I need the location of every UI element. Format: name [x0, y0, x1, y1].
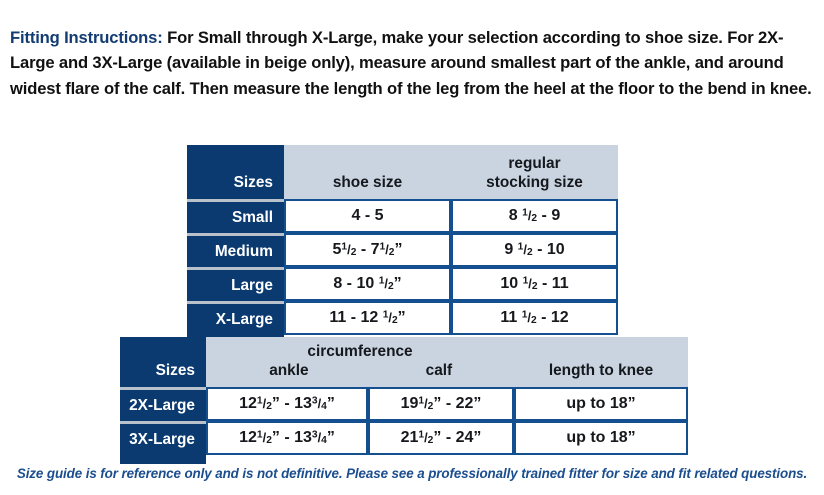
cell-large-stocking-size: 10 1/2 - 11: [451, 267, 618, 301]
cell-2xlarge-calf: 191/2” - 22”: [368, 387, 514, 421]
column-header-shoe-size-line1: shoe size: [333, 174, 402, 191]
cell-3xlarge-length-to-knee: up to 18”: [514, 421, 688, 455]
cell-3xlarge-calf: 211/2” - 24”: [368, 421, 514, 455]
column-header-length-to-knee: length to knee: [514, 337, 688, 387]
table-row: X-Large 11 - 12 1/2” 11 1/2 - 12: [187, 301, 618, 335]
row-label-xlarge: X-Large: [187, 301, 284, 335]
cell-large-shoe-size: 8 - 10 1/2”: [284, 267, 451, 301]
table-header-row: Sizes shoe size regular stocking size: [187, 145, 618, 199]
cell-3xlarge-ankle: 121/2” - 133/4”: [206, 421, 368, 455]
cell-2xlarge-length-to-knee: up to 18”: [514, 387, 688, 421]
row-label-3xlarge: 3X-Large: [120, 421, 206, 455]
fitting-instructions-paragraph: Fitting Instructions: For Small through …: [10, 25, 816, 102]
group-header-circumference-label: circumference: [210, 342, 510, 361]
fitting-instructions-label: Fitting Instructions:: [10, 28, 163, 47]
spacer: [368, 455, 514, 464]
navy-column-footer: [120, 455, 206, 464]
table-row: 3X-Large 121/2” - 133/4” 211/2” - 24” up…: [120, 421, 688, 455]
column-header-stocking-size: regular stocking size: [451, 145, 618, 199]
column-header-length-to-knee-label: length to knee: [549, 362, 653, 379]
row-label-small: Small: [187, 199, 284, 233]
table-row: Medium 51/2 - 71/2” 9 1/2 - 10: [187, 233, 618, 267]
cell-small-shoe-size: 4 - 5: [284, 199, 451, 233]
column-header-stocking-size-line2: stocking size: [486, 174, 583, 191]
cell-2xlarge-ankle: 121/2” - 133/4”: [206, 387, 368, 421]
cell-xlarge-shoe-size: 11 - 12 1/2”: [284, 301, 451, 335]
table-row: Large 8 - 10 1/2” 10 1/2 - 11: [187, 267, 618, 301]
size-chart-2xl-3xl: Sizes circumference ankle calf length to…: [120, 337, 688, 464]
column-header-calf: calf: [368, 361, 510, 380]
column-header-ankle: ankle: [210, 361, 368, 380]
table-row: Small 4 - 5 8 1/2 - 9: [187, 199, 618, 233]
row-label-medium: Medium: [187, 233, 284, 267]
table-header-row: Sizes circumference ankle calf length to…: [120, 337, 688, 387]
cell-medium-stocking-size: 9 1/2 - 10: [451, 233, 618, 267]
size-table-2: Sizes circumference ankle calf length to…: [120, 337, 688, 464]
spacer: [206, 455, 368, 464]
row-label-large: Large: [187, 267, 284, 301]
column-header-shoe-size: shoe size: [284, 145, 451, 199]
subheader-row: ankle calf: [210, 361, 510, 380]
size-table-1: Sizes shoe size regular stocking size Sm…: [187, 145, 618, 344]
spacer: [514, 455, 688, 464]
cell-medium-shoe-size: 51/2 - 71/2”: [284, 233, 451, 267]
size-chart-small-to-xlarge: Sizes shoe size regular stocking size Sm…: [187, 145, 618, 344]
column-header-sizes: Sizes: [120, 337, 206, 387]
table-row: 2X-Large 121/2” - 133/4” 191/2” - 22” up…: [120, 387, 688, 421]
group-header-circumference: circumference ankle calf: [206, 337, 514, 387]
column-header-sizes: Sizes: [187, 145, 284, 199]
column-header-stocking-size-line1: regular: [508, 155, 560, 172]
row-label-2xlarge: 2X-Large: [120, 387, 206, 421]
table-footer-strip: [120, 455, 688, 464]
size-guide-disclaimer: Size guide is for reference only and is …: [0, 466, 824, 481]
cell-small-stocking-size: 8 1/2 - 9: [451, 199, 618, 233]
cell-xlarge-stocking-size: 11 1/2 - 12: [451, 301, 618, 335]
